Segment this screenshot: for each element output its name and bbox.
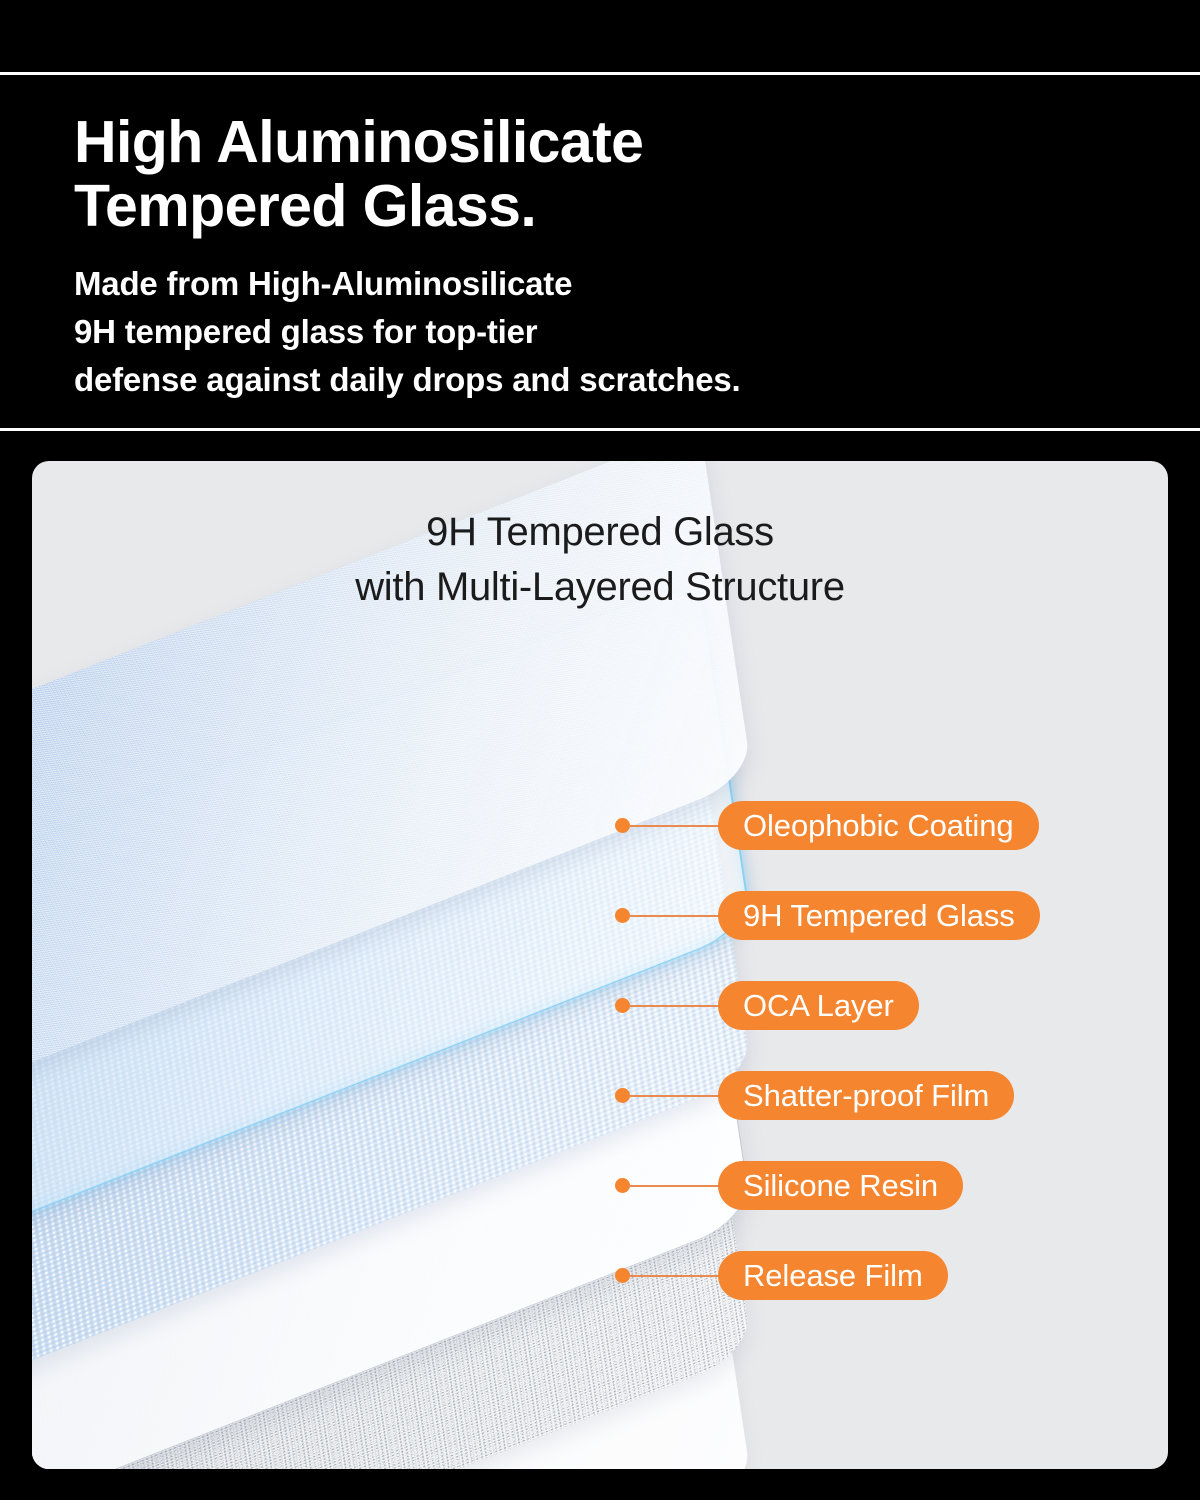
card-title-line-2: with Multi-Layered Structure (32, 560, 1168, 615)
layer-structure-card: 9H Tempered Glass with Multi-Layered Str… (32, 461, 1168, 1469)
headline-line-1: High Aluminosilicate (74, 111, 1200, 175)
header-card-divider-line (0, 428, 1200, 431)
callout-leader-line (630, 1005, 718, 1007)
layer-label-tempered-glass[interactable]: 9H Tempered Glass (718, 891, 1040, 940)
callout-shatter-proof-film: Shatter-proof Film (615, 1071, 1014, 1120)
callout-leader-line (630, 915, 718, 917)
layer-label-oleophobic-coating[interactable]: Oleophobic Coating (718, 801, 1039, 850)
callout-leader-line (630, 825, 718, 827)
layer-label-silicone-resin[interactable]: Silicone Resin (718, 1161, 963, 1210)
callout-leader-line (630, 1095, 718, 1097)
layer-label-shatter-proof-film[interactable]: Shatter-proof Film (718, 1071, 1014, 1120)
callout-leader-line (630, 1275, 718, 1277)
callout-oleophobic-coating: Oleophobic Coating (615, 801, 1039, 850)
subcopy: Made from High-Aluminosilicate 9H temper… (74, 260, 1200, 404)
callout-dot-icon (615, 818, 630, 833)
callout-dot-icon (615, 1088, 630, 1103)
subcopy-line-2: 9H tempered glass for top-tier (74, 308, 1200, 356)
callout-leader-line (630, 1185, 718, 1187)
subcopy-line-3: defense against daily drops and scratche… (74, 356, 1200, 404)
header-section: High Aluminosilicate Tempered Glass. Mad… (0, 75, 1200, 427)
layer-label-oca-layer[interactable]: OCA Layer (718, 981, 919, 1030)
layer-label-release-film[interactable]: Release Film (718, 1251, 948, 1300)
headline-line-2: Tempered Glass. (74, 175, 1200, 239)
callout-release-film: Release Film (615, 1251, 948, 1300)
card-title: 9H Tempered Glass with Multi-Layered Str… (32, 505, 1168, 615)
callout-oca-layer: OCA Layer (615, 981, 919, 1030)
callout-silicone-resin: Silicone Resin (615, 1161, 963, 1210)
subcopy-line-1: Made from High-Aluminosilicate (74, 260, 1200, 308)
callout-tempered-glass: 9H Tempered Glass (615, 891, 1040, 940)
callout-dot-icon (615, 908, 630, 923)
callout-dot-icon (615, 998, 630, 1013)
headline: High Aluminosilicate Tempered Glass. (74, 111, 1200, 238)
callout-dot-icon (615, 1178, 630, 1193)
callout-dot-icon (615, 1268, 630, 1283)
card-title-line-1: 9H Tempered Glass (32, 505, 1168, 560)
